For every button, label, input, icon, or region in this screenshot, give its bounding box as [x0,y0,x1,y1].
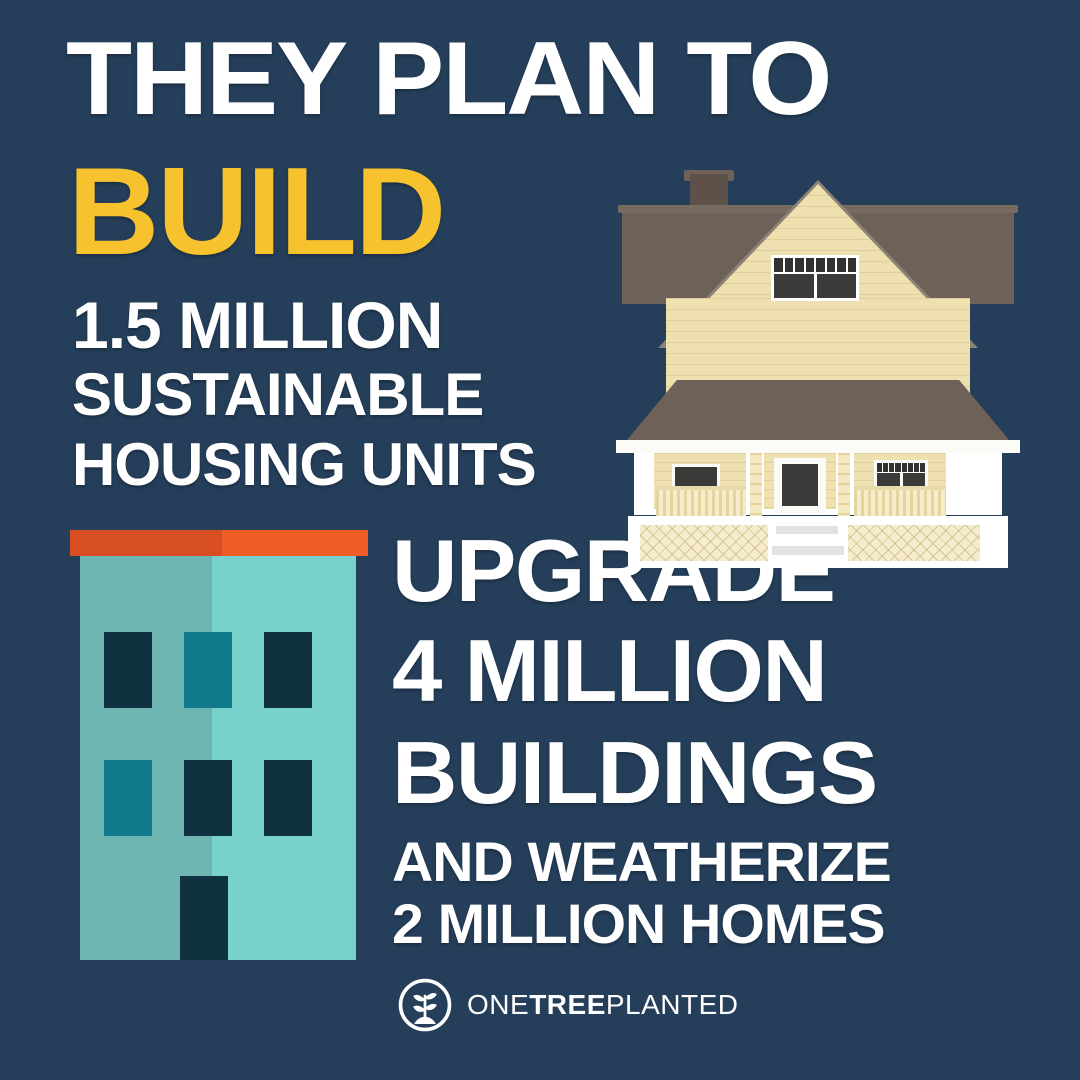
lattice-panel-right [848,525,980,561]
attic-pane-row [774,274,856,298]
house-illustration [616,168,1020,518]
building-window-r2c1 [104,760,152,836]
balusters-left [656,490,746,516]
secondary-line-and-weatherize: AND WEATHERIZE [392,838,891,885]
secondary-line-2-million-homes: 2 MILLION HOMES [392,900,884,947]
porch-post-right [838,453,850,516]
attic-transom-row [774,258,856,272]
infographic-canvas: THEY PLAN TO BUILD 1.5 MILLION SUSTAINAB… [0,0,1080,1080]
logo-tree: TREE [529,989,606,1020]
porch-roof-fascia [616,440,1020,453]
building-illustration [66,528,372,968]
headline-line-sustainable: SUSTAINABLE [72,370,483,420]
front-door-icon [774,458,826,514]
building-facade-right [212,556,356,960]
building-door-icon [180,876,228,960]
logo-planted: PLANTED [606,989,739,1020]
headline-line-1-5-million: 1.5 MILLION [72,298,442,353]
secondary-line-buildings: BUILDINGS [392,736,877,810]
attic-window-icon [771,255,859,301]
brand-logo-text: ONETREEPLANTED [467,989,739,1021]
porch-roof-icon [622,380,1014,446]
building-window-r2c2 [184,760,232,836]
lattice-panel-left [640,525,768,561]
brand-logo: ONETREEPLANTED [396,976,739,1034]
building-roof-band-left [70,530,222,556]
headline-line-housing-units: HOUSING UNITS [72,440,536,490]
building-window-r1c3 [264,632,312,708]
balusters-right [854,490,946,516]
porch-post-left [750,453,762,516]
building-window-r1c1 [104,632,152,708]
building-window-r2c3 [264,760,312,836]
building-roof-band-right [222,530,368,556]
sapling-in-circle-icon [396,976,454,1034]
porch-window-transoms [877,463,925,472]
secondary-line-4-million: 4 MILLION [392,634,826,708]
logo-one: ONE [467,989,529,1020]
headline-line-build: BUILD [68,160,444,264]
porch-step-upper [776,526,838,534]
porch-step-lower [772,546,844,555]
building-window-r1c2 [184,632,232,708]
headline-line-they-plan-to: THEY PLAN TO [66,36,830,123]
